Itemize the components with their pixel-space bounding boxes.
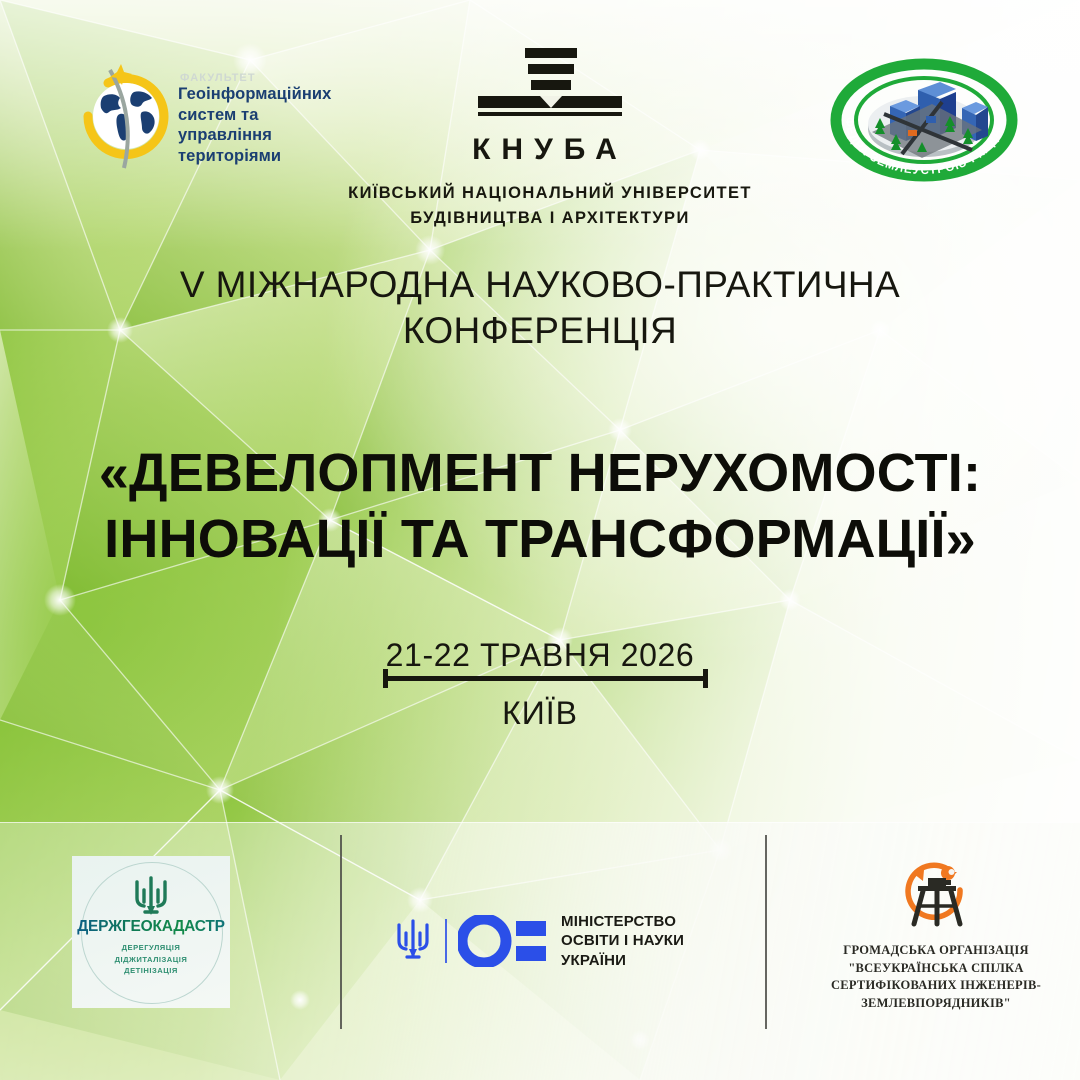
partner-logo-geocadastre: ДЕРЖГЕОКАДАСТР ДЕРЕГУЛЯЦІЯ ДІДЖИТАЛІЗАЦІ… — [72, 856, 230, 1008]
conference-date: 21-22 ТРАВНЯ 2026 — [90, 636, 990, 674]
conference-poster: ФАКУЛЬТЕТ Геоінформаційних систем та упр… — [0, 0, 1080, 1080]
partner-logo-ngo: ГРОМАДСЬКА ОРГАНІЗАЦІЯ "ВСЕУКРАЇНСЬКА СП… — [800, 860, 1072, 1012]
ministry-line1: МІНІСТЕРСТВО — [561, 912, 684, 932]
geocadastre-sub1: ДЕРЕГУЛЯЦІЯ — [72, 942, 230, 954]
partner-logo-ministry: МІНІСТЕРСТВО ОСВІТИ І НАУКИ УКРАЇНИ — [392, 905, 722, 977]
university-name-line1: КИЇВСЬКИЙ НАЦІОНАЛЬНИЙ УНІВЕРСИТЕТ — [300, 181, 800, 206]
geocadastre-sub3: ДЕТІНІЗАЦІЯ — [72, 965, 230, 977]
conference-heading-line1: V МІЖНАРОДНА НАУКОВО-ПРАКТИЧНА — [90, 262, 990, 308]
geocadastre-sub2: ДІДЖИТАЛІЗАЦІЯ — [72, 954, 230, 966]
university-name-line2: БУДІВНИЦТВА І АРХІТЕКТУРИ — [300, 206, 800, 231]
knuba-acronym: КНУБА — [300, 133, 800, 167]
conference-city: КИЇВ — [90, 694, 990, 732]
conference-title: «ДЕВЕЛОПМЕНТ НЕРУХОМОСТІ: ІННОВАЦІЇ ТА Т… — [60, 440, 1020, 572]
isometric-city-icon — [868, 82, 988, 158]
ngo-line4: ЗЕМЛЕВПОРЯДНИКІВ" — [800, 995, 1072, 1013]
geocadastre-name: ДЕРЖГЕОКАДАСТР — [72, 918, 230, 936]
ministry-mark-icon — [458, 915, 550, 967]
conference-title-line2: ІННОВАЦІЇ ТА ТРАНСФОРМАЦІЇ» — [60, 506, 1020, 572]
department-logo: КАФЕДРА ЗЕМЛЕУСТРОЮ І КАДАСТРІ — [822, 58, 1026, 182]
surveying-theodolite-icon — [800, 860, 1072, 934]
band-divider-right — [765, 835, 767, 1029]
trident-icon-ministry — [392, 916, 434, 966]
ngo-line1: ГРОМАДСЬКА ОРГАНІЗАЦІЯ — [800, 942, 1072, 960]
trident-icon — [129, 872, 173, 920]
globe-icon — [70, 64, 180, 174]
ngo-line2: "ВСЕУКРАЇНСЬКА СПІЛКА — [800, 960, 1072, 978]
band-divider-left — [340, 835, 342, 1029]
conference-heading: V МІЖНАРОДНА НАУКОВО-ПРАКТИЧНА КОНФЕРЕНЦ… — [90, 262, 990, 354]
ministry-line3: УКРАЇНИ — [561, 951, 684, 971]
university-logo: КНУБА КИЇВСЬКИЙ НАЦІОНАЛЬНИЙ УНІВЕРСИТЕТ… — [300, 46, 800, 231]
divider-rule — [383, 676, 708, 681]
conference-title-line1: «ДЕВЕЛОПМЕНТ НЕРУХОМОСТІ: — [60, 440, 1020, 506]
ngo-line3: СЕРТИФІКОВАНИХ ІНЖЕНЕРІВ- — [800, 977, 1072, 995]
knuba-emblem-icon — [470, 46, 630, 124]
ministry-separator — [445, 919, 447, 963]
ministry-line2: ОСВІТИ І НАУКИ — [561, 931, 684, 951]
conference-heading-line2: КОНФЕРЕНЦІЯ — [90, 308, 990, 354]
